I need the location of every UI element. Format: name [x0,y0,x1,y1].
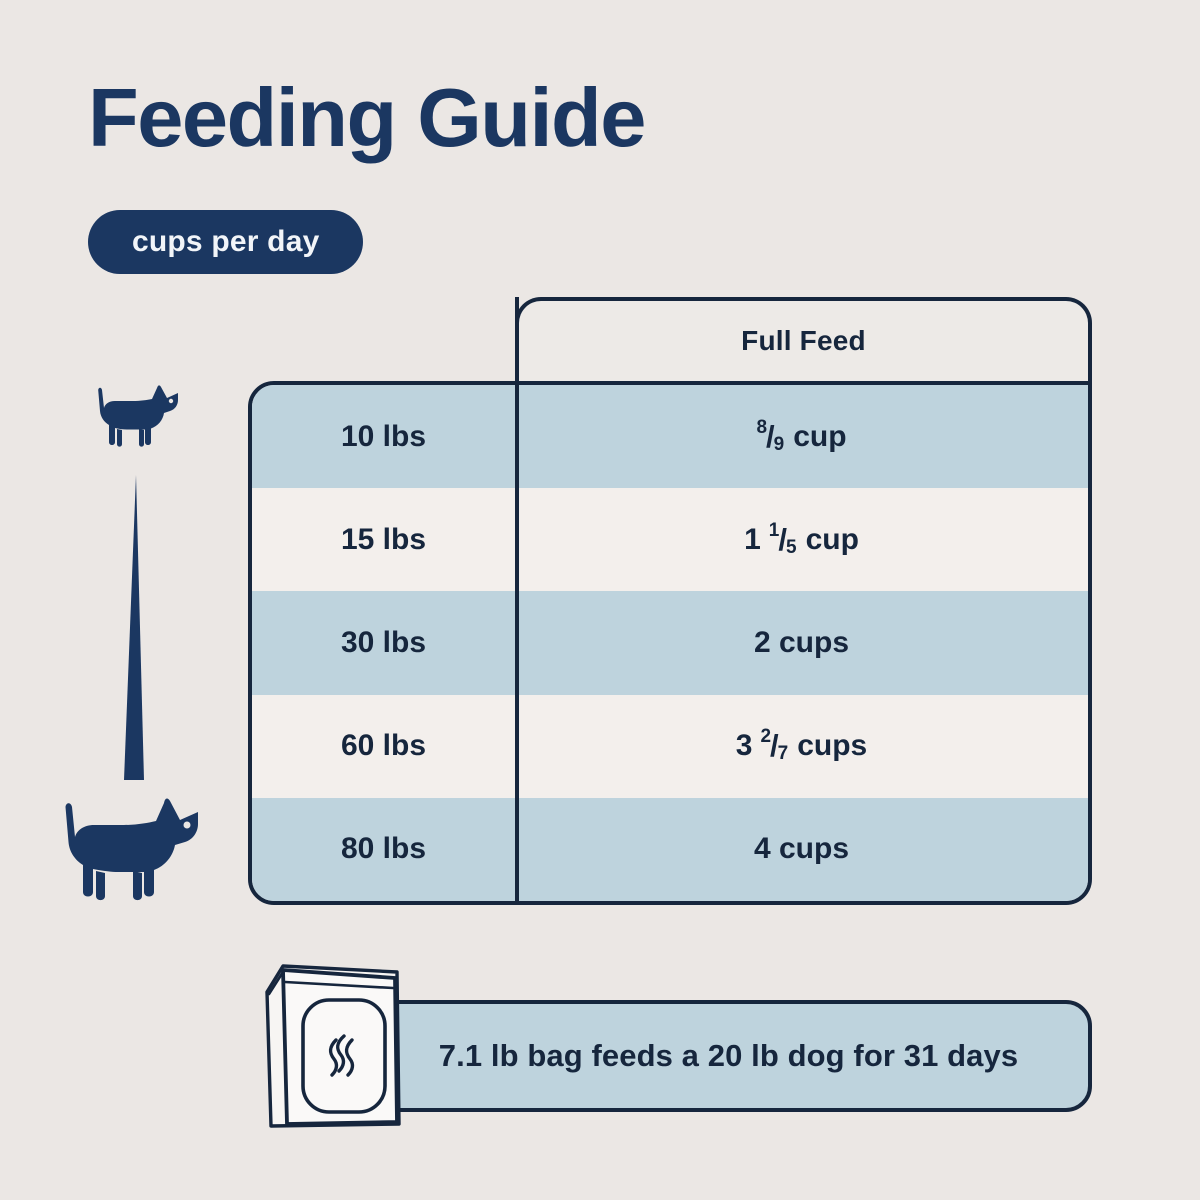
table-body: 10 lbs 8 / 9 cup 15 lbs 1 [248,381,1092,905]
fraction-denominator: 9 [774,434,785,456]
table-row: 80 lbs 4 cups [252,798,1088,901]
dog-silhouette-small-icon [95,380,185,454]
cell-amount: 4 cups [515,832,1088,866]
table-header-full-feed: Full Feed [515,297,1092,381]
table-row: 30 lbs 2 cups [252,591,1088,694]
cell-amount: 3 2 / 7 cups [515,728,1088,764]
cell-weight: 80 lbs [252,832,515,866]
fraction: 1 / 5 [769,522,797,558]
cell-amount: 8 / 9 cup [515,419,1088,455]
feeding-guide-infographic: Feeding Guide cups per day Full Feed [0,0,1200,1200]
fraction-denominator: 5 [786,537,797,559]
amount-whole: 3 [736,729,753,763]
fraction-numerator: 8 [756,417,767,439]
column-header-label: Full Feed [741,325,866,357]
dog-silhouette-large-icon [60,790,212,910]
feeding-table: Full Feed 10 lbs 8 / 9 cup 15 l [248,297,1092,905]
cell-weight: 10 lbs [252,420,515,454]
banner-label: 7.1 lb bag feeds a 20 lb dog for 31 days [439,1038,1018,1074]
status-badge: cups per day [88,210,363,274]
table-row: 15 lbs 1 1 / 5 cup [252,488,1088,591]
column-divider [515,297,519,905]
cell-amount: 2 cups [515,626,1088,660]
fraction: 2 / 7 [760,728,788,764]
size-gradient-wedge-icon [115,475,155,780]
bag-duration-banner: 7.1 lb bag feeds a 20 lb dog for 31 days [365,1000,1092,1112]
dog-food-bag-icon [247,952,427,1132]
amount-unit: cup [806,523,859,557]
amount-whole: 1 [744,523,761,557]
amount-unit: cups [797,729,867,763]
cell-amount: 1 1 / 5 cup [515,522,1088,558]
cell-weight: 15 lbs [252,523,515,557]
fraction-numerator: 1 [769,520,780,542]
badge-label: cups per day [132,225,319,259]
amount-unit: cup [793,420,846,454]
cell-weight: 60 lbs [252,729,515,763]
table-row: 60 lbs 3 2 / 7 cups [252,695,1088,798]
size-illustration [55,380,235,910]
cell-weight: 30 lbs [252,626,515,660]
fraction-numerator: 2 [760,726,771,748]
fraction-denominator: 7 [778,743,789,765]
table-row: 10 lbs 8 / 9 cup [252,385,1088,488]
page-title: Feeding Guide [88,76,645,159]
fraction: 8 / 9 [756,419,784,455]
